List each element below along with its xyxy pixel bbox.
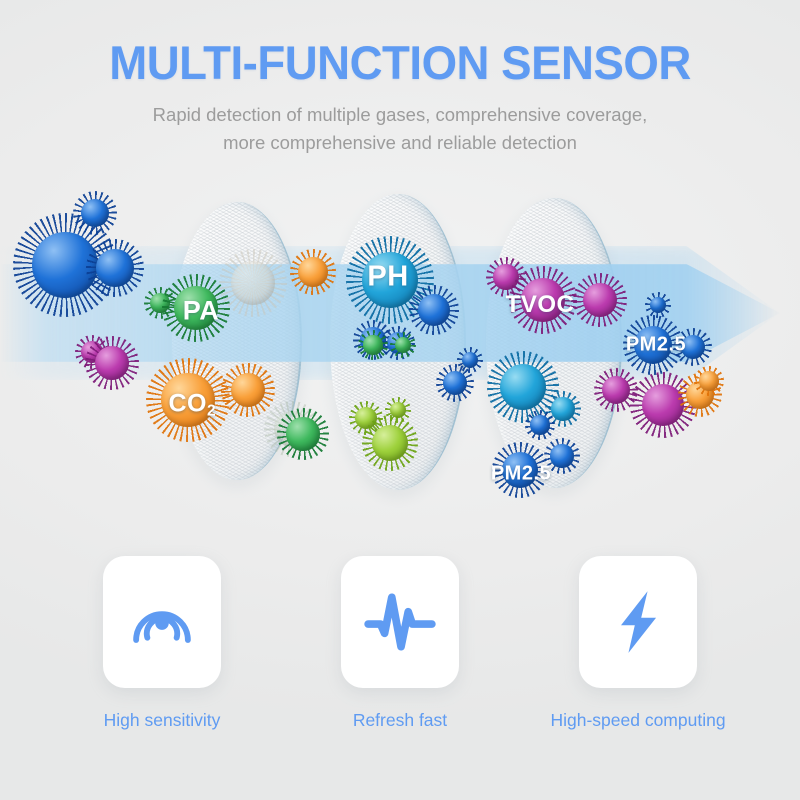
signal-waves-icon — [126, 586, 198, 658]
particle — [409, 285, 459, 335]
particle-core — [530, 415, 549, 434]
particle — [544, 438, 580, 474]
particle — [573, 273, 627, 327]
particle-core — [298, 257, 327, 286]
sensor-illustration: PACO2PHTVOCPM2.5PM2.5 — [0, 180, 800, 530]
particle-core — [174, 286, 218, 330]
particle-core — [602, 376, 630, 404]
particle-core — [81, 199, 109, 227]
particle — [509, 266, 577, 334]
particle — [525, 410, 555, 440]
particle-core — [161, 373, 215, 427]
feature-refresh-fast[interactable]: Refresh fast — [322, 556, 478, 731]
particle — [674, 328, 712, 366]
particle — [219, 249, 287, 317]
particle — [492, 442, 548, 498]
feature-label-high-speed-computing: High-speed computing — [550, 710, 725, 731]
particle — [390, 332, 416, 358]
particle — [85, 336, 139, 390]
pulse-wave-icon — [363, 585, 437, 659]
poster-header: MULTI-FUNCTION SENSOR Rapid detection of… — [0, 0, 800, 157]
particle-core — [699, 371, 718, 390]
particle-core — [521, 278, 565, 322]
particle — [358, 330, 388, 360]
particle — [277, 408, 329, 460]
particle — [146, 358, 230, 442]
feature-label-high-sensitivity: High sensitivity — [104, 710, 221, 731]
particle-core — [551, 397, 574, 420]
page-title: MULTI-FUNCTION SENSOR — [12, 38, 788, 87]
particle-core — [418, 294, 450, 326]
feature-card-refresh-fast[interactable] — [341, 556, 459, 688]
page-subtitle: Rapid detection of multiple gases, compr… — [100, 101, 700, 157]
particle — [457, 347, 483, 373]
particle — [362, 415, 418, 471]
particle — [694, 366, 724, 396]
particle — [86, 239, 144, 297]
particle-core — [500, 364, 546, 410]
particle-core — [502, 452, 538, 488]
sensor-poster: MULTI-FUNCTION SENSOR Rapid detection of… — [0, 0, 800, 800]
particle — [645, 292, 671, 318]
particle — [73, 191, 117, 235]
feature-list: High sensitivity Refresh fast Hi — [0, 556, 800, 731]
particle — [221, 363, 275, 417]
particle-core — [372, 425, 408, 461]
particle-core — [362, 252, 418, 308]
feature-high-sensitivity[interactable]: High sensitivity — [84, 556, 240, 731]
feature-card-high-sensitivity[interactable] — [103, 556, 221, 688]
feature-label-refresh-fast: Refresh fast — [353, 710, 447, 731]
particle-core — [96, 249, 133, 286]
particle — [290, 249, 336, 295]
feature-high-speed-computing[interactable]: High-speed computing — [560, 556, 716, 731]
feature-card-high-speed-computing[interactable] — [579, 556, 697, 688]
subtitle-line-2: more comprehensive and reliable detectio… — [100, 129, 700, 157]
particle-core — [286, 417, 319, 450]
particle-core — [550, 444, 573, 467]
particle-core — [363, 335, 382, 354]
lightning-bolt-icon — [604, 588, 672, 656]
subtitle-line-1: Rapid detection of multiple gases, compr… — [100, 101, 700, 129]
particle-core — [231, 261, 275, 305]
